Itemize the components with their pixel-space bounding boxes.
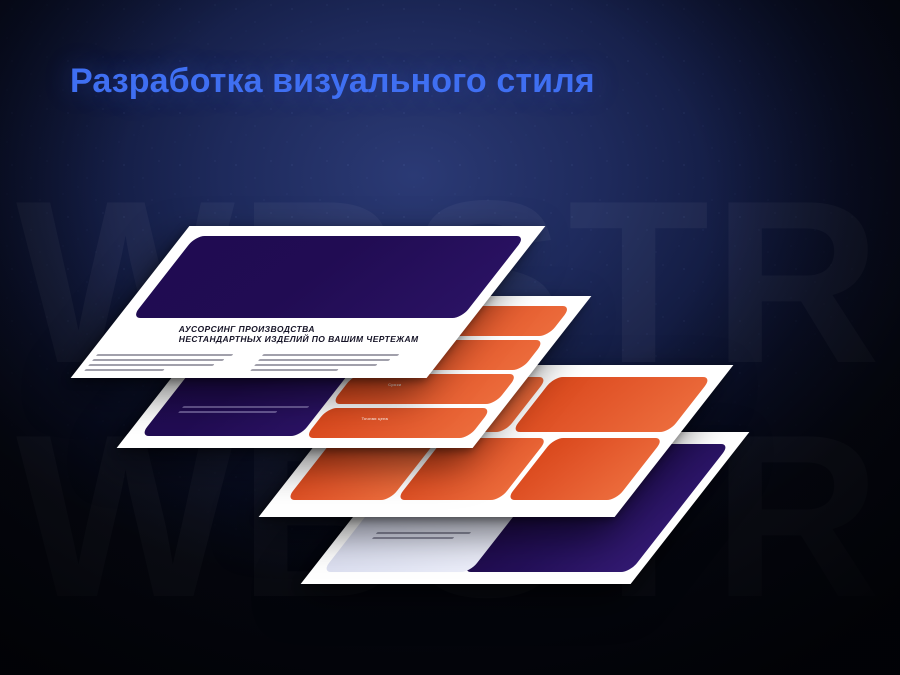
presentation-mockup-canvas: WBSTR WBSTR Разработка визуального стиля <box>0 0 900 675</box>
title-body-column-right <box>248 354 400 374</box>
slide-contacts-caption-lines <box>369 532 471 542</box>
advantage-card-4: Точная цена <box>304 408 491 438</box>
advantage-card-4-label: Точная цена <box>362 416 388 421</box>
advantages-body-lines <box>176 406 310 416</box>
advantage-card-3: Сроки <box>331 374 518 404</box>
advantage-card-3-label: Сроки <box>388 382 401 387</box>
title-hero-purple-block <box>131 236 525 318</box>
slide-title-heading: АУСОРСИНГ ПРОИЗВОДСТВА НЕСТАНДАРТНЫХ ИЗД… <box>179 324 419 345</box>
title-body-column-left <box>82 354 234 374</box>
slide-stack: ПРЕИМУЩЕСТВА НАШЕЙ КОМПАНИИ Опыт Качеств… <box>0 0 900 675</box>
